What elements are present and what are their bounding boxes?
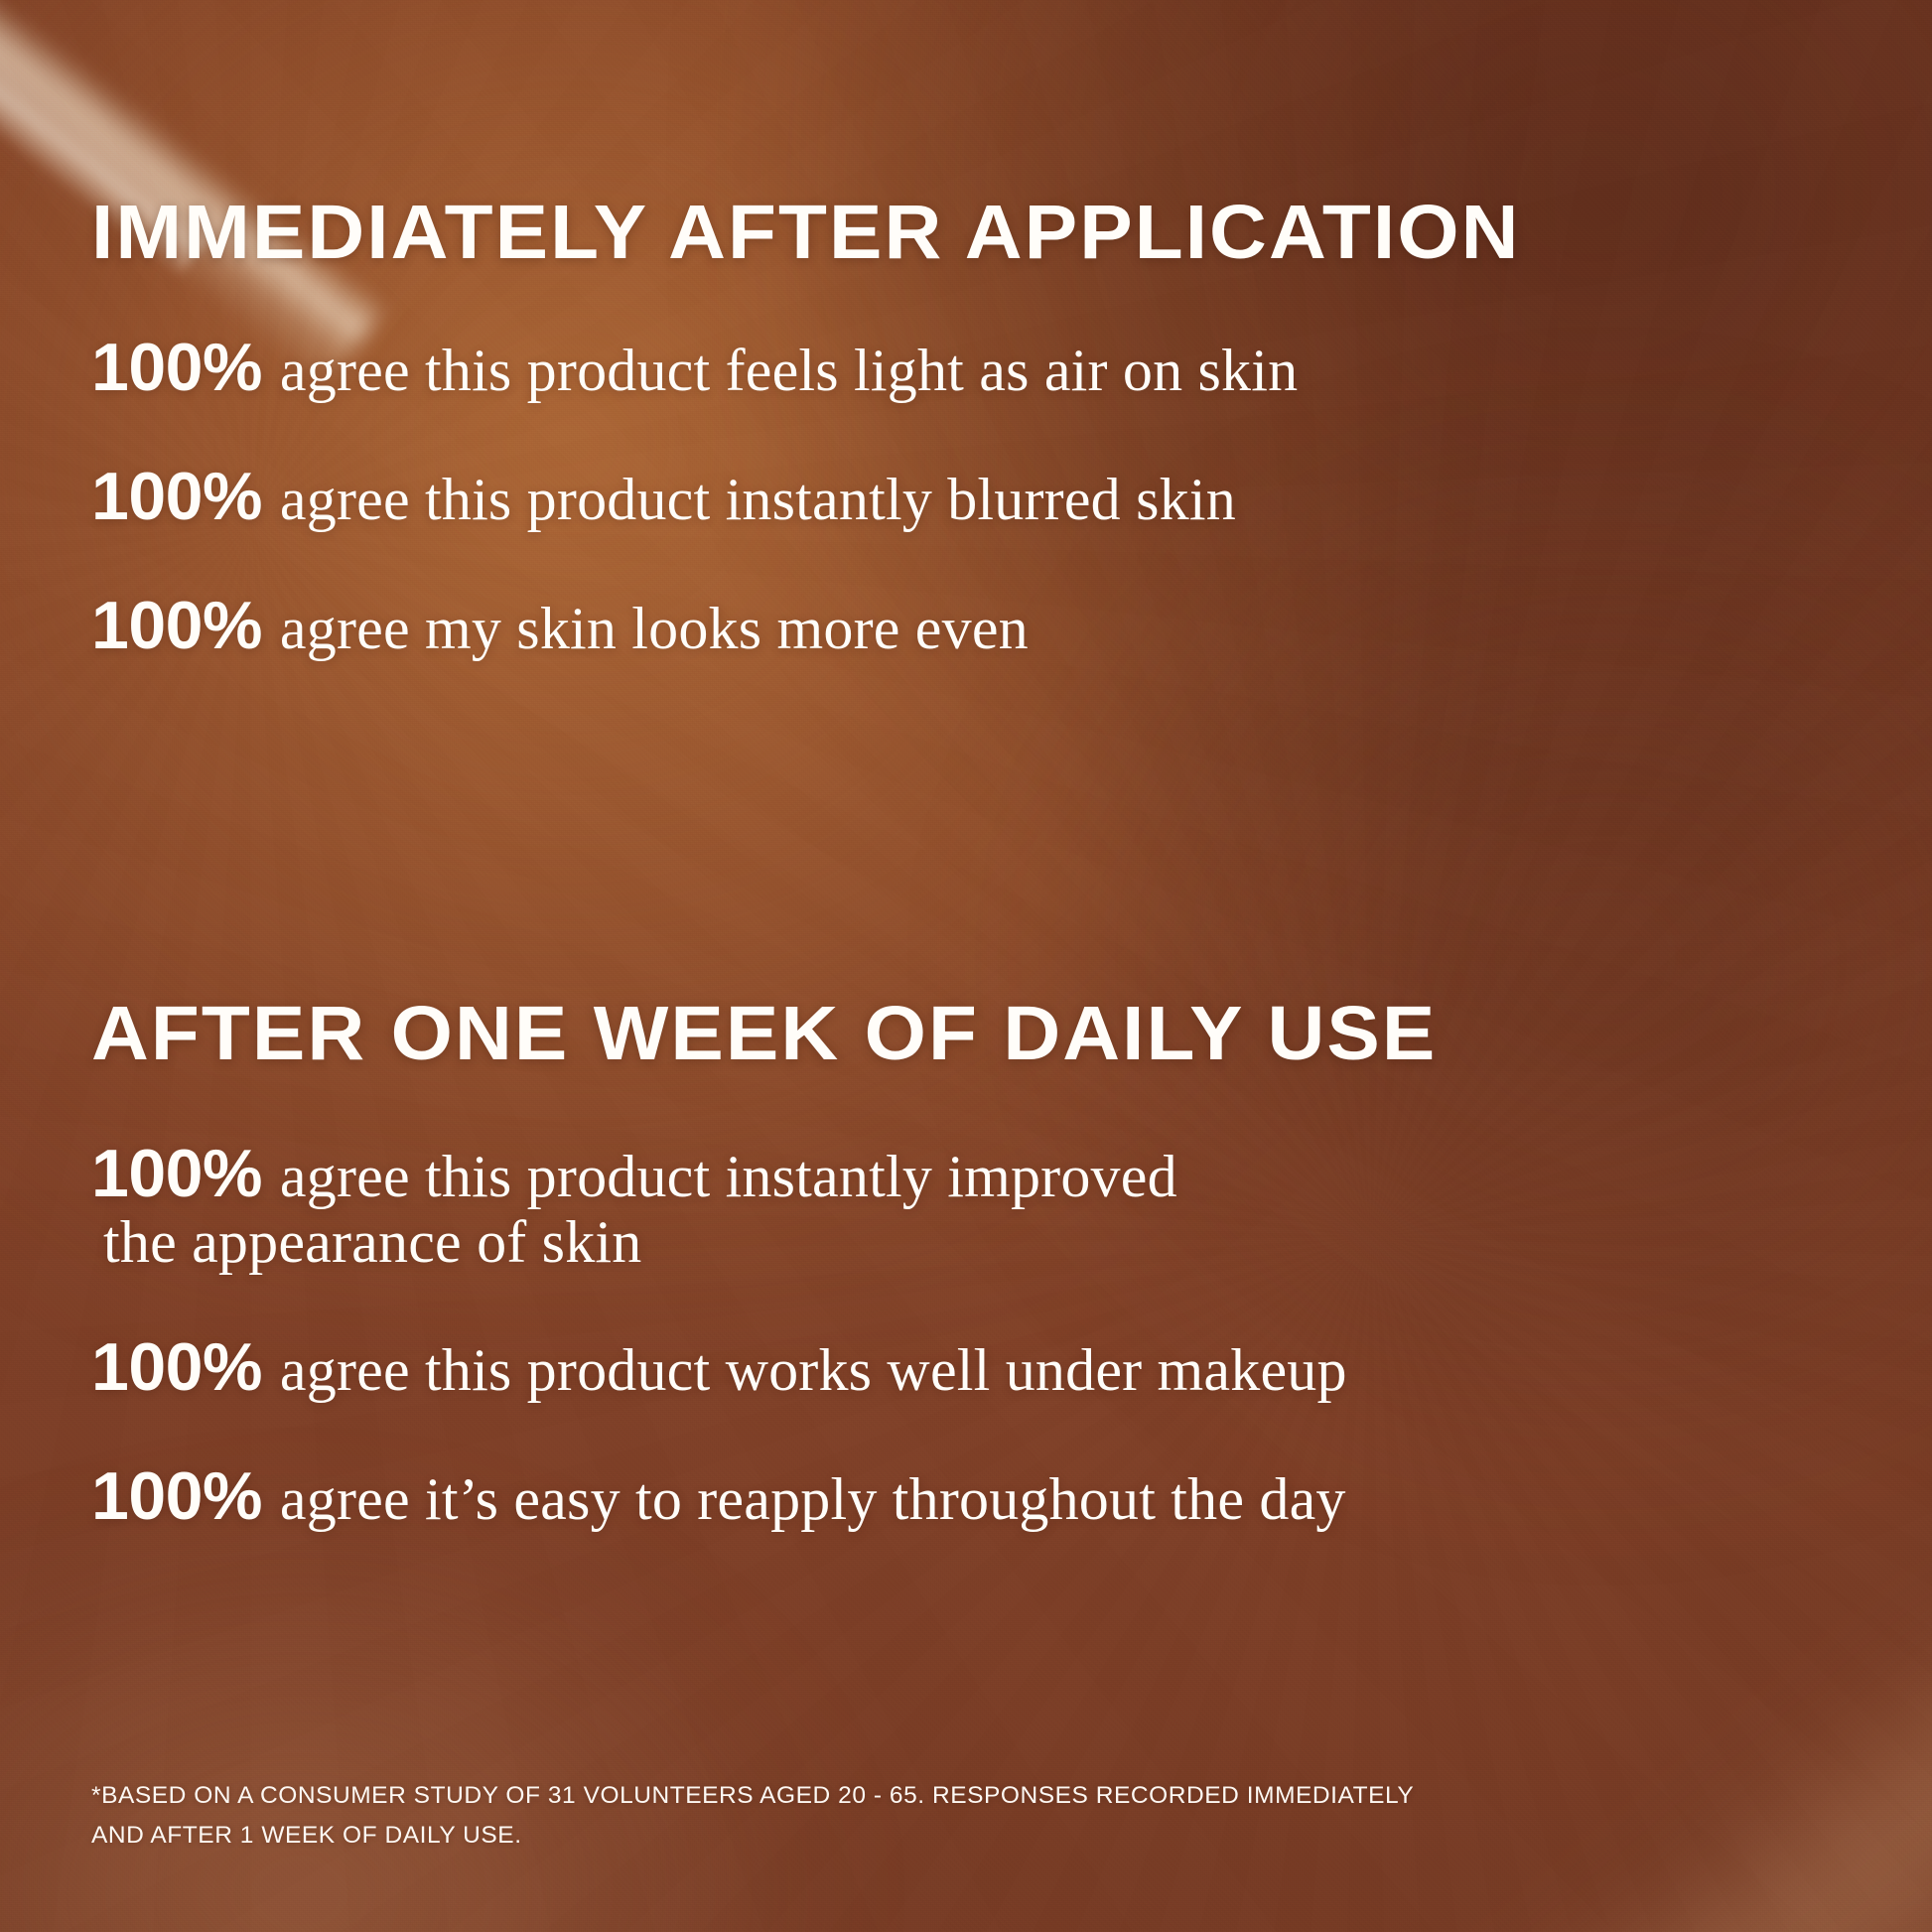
claims-list-immediate: 100%agree this product feels light as ai… xyxy=(91,329,1298,664)
claim-row: 100%agree it’s easy to reapply throughou… xyxy=(91,1457,1347,1535)
claim-percent: 100% xyxy=(91,330,280,405)
section-heading-immediately-after-application: IMMEDIATELY AFTER APPLICATION xyxy=(91,195,1521,271)
claims-list-week: 100%agree this product instantly improve… xyxy=(91,1135,1347,1535)
claim-row: 100%agree this product instantly blurred… xyxy=(91,458,1298,535)
claim-percent: 100% xyxy=(91,1329,280,1405)
claim-percent: 100% xyxy=(91,1458,280,1534)
claim-row: 100%agree this product works well under … xyxy=(91,1328,1347,1406)
claim-row: 100%agree my skin looks more even xyxy=(91,587,1298,664)
footnote-disclaimer: *BASED ON A CONSUMER STUDY OF 31 VOLUNTE… xyxy=(91,1776,1414,1855)
claim-percent: 100% xyxy=(91,588,280,663)
product-claims-card: IMMEDIATELY AFTER APPLICATION 100%agree … xyxy=(0,0,1932,1932)
claim-row: 100%agree this product instantly improve… xyxy=(91,1135,1347,1277)
claim-text: agree this product instantly improved xyxy=(280,1144,1177,1209)
claim-line: 100%agree this product instantly improve… xyxy=(91,1135,1347,1212)
claim-text-continuation: the appearance of skin xyxy=(91,1208,1347,1277)
claim-row: 100%agree this product feels light as ai… xyxy=(91,329,1298,406)
claim-text: agree my skin looks more even xyxy=(280,596,1029,661)
claim-percent: 100% xyxy=(91,459,280,534)
claims-content: IMMEDIATELY AFTER APPLICATION 100%agree … xyxy=(0,0,1932,1932)
footnote-line-2: AND AFTER 1 WEEK OF DAILY USE. xyxy=(91,1816,1414,1856)
claim-line: 100%agree this product works well under … xyxy=(91,1328,1347,1406)
claim-line: 100%agree it’s easy to reapply throughou… xyxy=(91,1457,1347,1535)
claim-text: agree it’s easy to reapply throughout th… xyxy=(280,1466,1346,1532)
claim-line: 100%agree this product instantly blurred… xyxy=(91,458,1298,535)
section-heading-after-one-week-of-daily-use: AFTER ONE WEEK OF DAILY USE xyxy=(91,996,1437,1072)
footnote-line-1: *BASED ON A CONSUMER STUDY OF 31 VOLUNTE… xyxy=(91,1776,1414,1816)
claim-text: agree this product instantly blurred ski… xyxy=(280,467,1236,532)
claim-percent: 100% xyxy=(91,1136,280,1211)
claim-line: 100%agree my skin looks more even xyxy=(91,587,1298,664)
claim-line: 100%agree this product feels light as ai… xyxy=(91,329,1298,406)
claim-text: agree this product feels light as air on… xyxy=(280,338,1298,403)
claim-text: agree this product works well under make… xyxy=(280,1337,1347,1403)
